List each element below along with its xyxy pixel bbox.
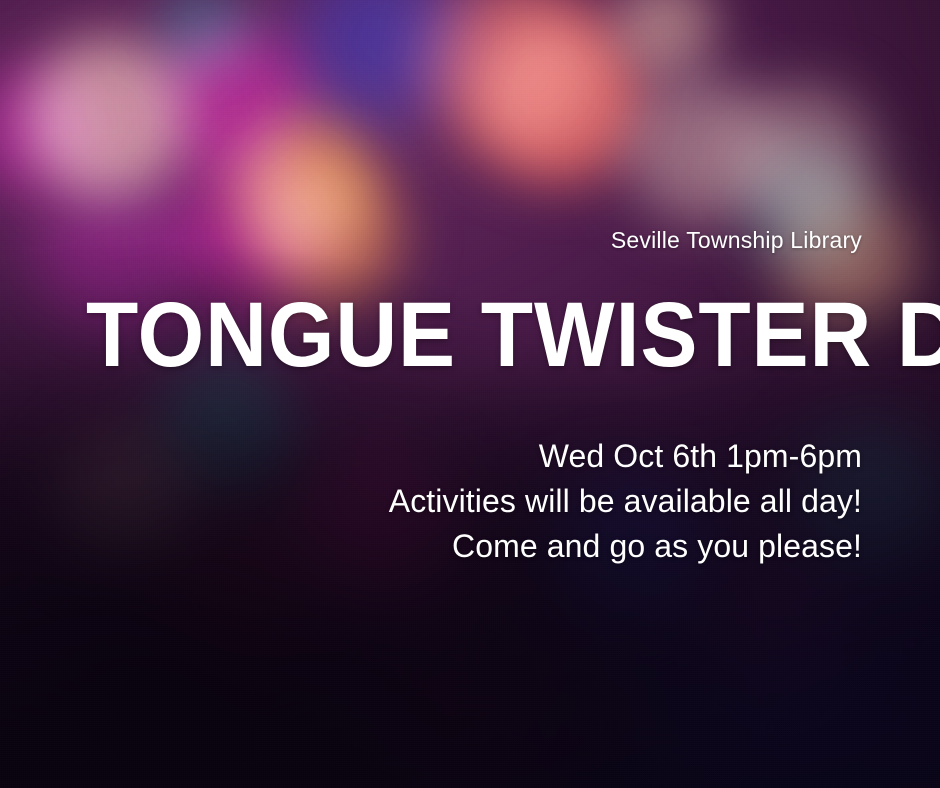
event-detail-line-activities: Activities will be available all day! (389, 479, 862, 524)
poster-canvas: Seville Township Library TONGUE TWISTER … (0, 0, 940, 788)
event-detail-line-datetime: Wed Oct 6th 1pm-6pm (389, 434, 862, 479)
event-details: Wed Oct 6th 1pm-6pm Activities will be a… (389, 434, 862, 569)
poster-content: Seville Township Library TONGUE TWISTER … (0, 0, 940, 788)
event-title: TONGUE TWISTER DAY (86, 292, 808, 378)
organization-name: Seville Township Library (611, 227, 862, 254)
event-detail-line-dropin: Come and go as you please! (389, 524, 862, 569)
